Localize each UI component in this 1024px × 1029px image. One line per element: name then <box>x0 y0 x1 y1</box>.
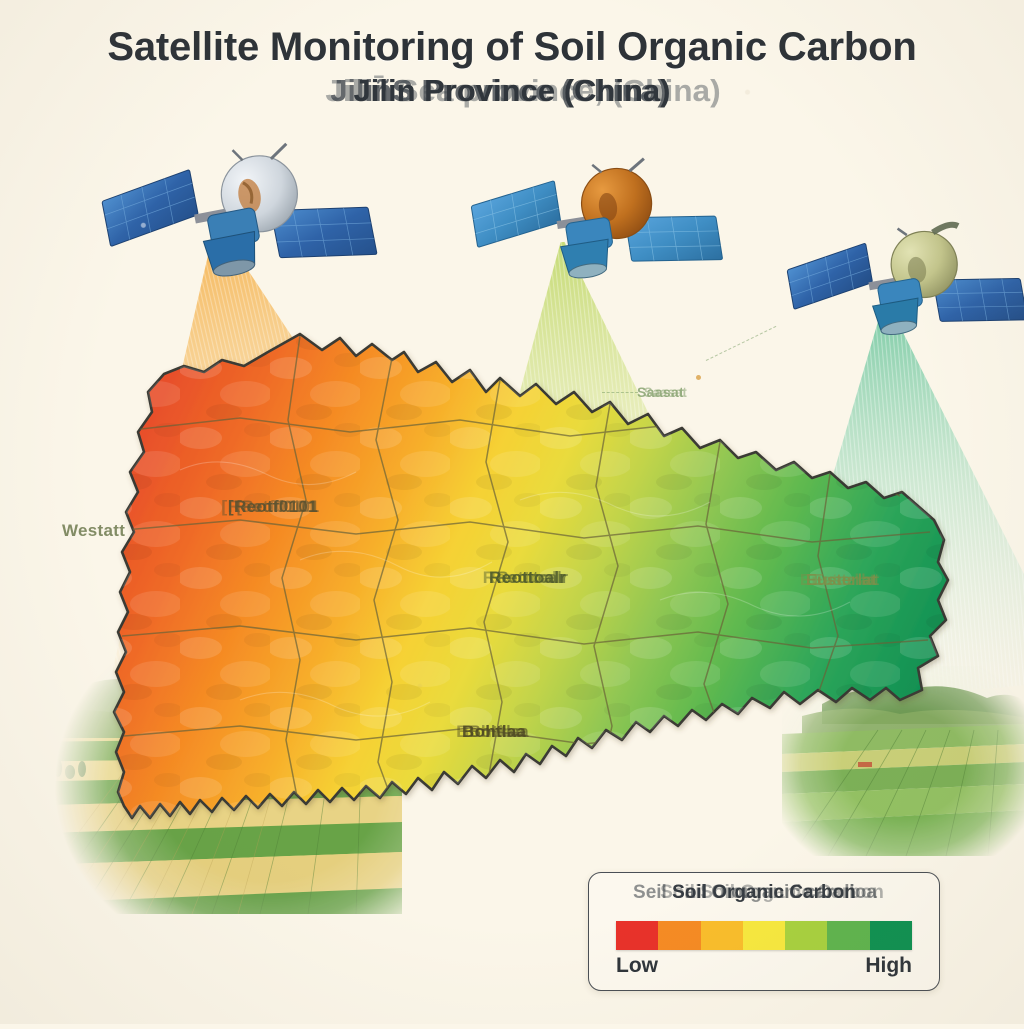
map-label-east-text: Eusterlat <box>806 572 877 589</box>
map-label-satellite-track: Saasat Saasat <box>637 384 684 400</box>
legend-swatch-1 <box>658 921 700 950</box>
satellite-center <box>474 165 718 295</box>
farmland-inset-left <box>10 646 402 914</box>
map-label-central-text: Reottoalr <box>489 568 566 587</box>
legend-scale: Low High <box>616 954 912 978</box>
satellite-east <box>790 228 1022 354</box>
legend-swatch-6 <box>870 921 912 950</box>
map-label-west: Westatt <box>62 521 125 541</box>
legend-swatch-2 <box>701 921 743 950</box>
map-label-east: Eusterlat Eusterlat Eusterlat <box>806 572 877 590</box>
page-subtitle: Jilin̄ Sea province, (China) JiliñS Prov… <box>0 73 1024 121</box>
orbit-track-line-upper <box>706 326 777 361</box>
legend-title: Soil Soil Organic Carbon Seil Sail O org… <box>589 882 939 916</box>
map-label-northwest: [Reotf0101 [Reotf0101 [Reotf0101 <box>228 497 318 517</box>
legend-high-label: High <box>865 954 912 978</box>
satellite-west <box>104 150 376 290</box>
satellite-beam-teal <box>690 300 1024 700</box>
farmland-inset-right <box>782 666 1024 856</box>
legend-title-text: Soil Organic Carbon <box>589 882 939 904</box>
legend-color-bar <box>616 921 912 950</box>
map-label-northwest-text: [Reotf0101 <box>228 497 318 516</box>
legend-panel: Soil Soil Organic Carbon Seil Sail O org… <box>588 872 940 991</box>
map-label-south: Bohtlaa Bohtlaa Bohtlaa <box>462 722 526 742</box>
orbit-marker-dot <box>696 375 701 380</box>
map-label-south-text: Bohtlaa <box>462 722 526 741</box>
orbit-track-line <box>602 392 638 393</box>
legend-swatch-3 <box>743 921 785 950</box>
legend-swatch-0 <box>616 921 658 950</box>
page-title: Satellite Monitoring of Soil Organic Car… <box>0 26 1024 69</box>
page-subtitle-text: Jilin Province (China) <box>0 73 1024 109</box>
legend-swatch-5 <box>827 921 869 950</box>
title-block: Satellite Monitoring of Soil Organic Car… <box>0 26 1024 121</box>
satellite-beam-green <box>345 238 745 678</box>
map-label-satellite-text: Saasat <box>637 384 684 400</box>
legend-low-label: Low <box>616 954 658 978</box>
map-label-central: Reottoalr Reottoalr Reottoalr <box>489 568 566 588</box>
legend-swatch-4 <box>785 921 827 950</box>
